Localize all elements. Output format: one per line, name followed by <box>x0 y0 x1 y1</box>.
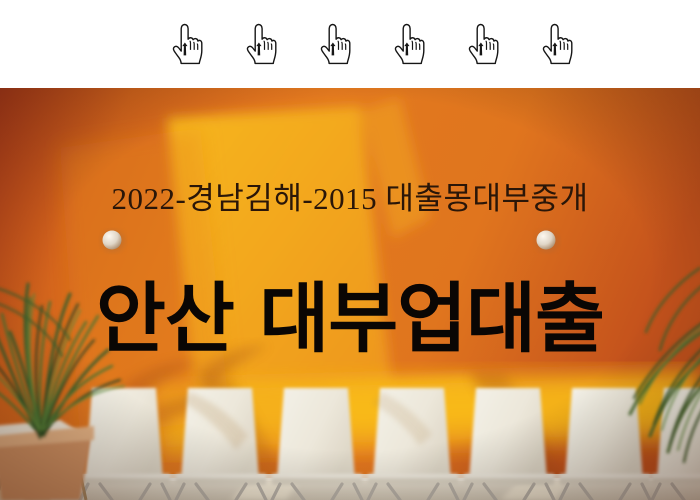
pointing-hand-icon-row <box>0 0 700 88</box>
page-root: 2022-경남김해-2015 대출몽대부중개 안산 대부업대출 <box>0 0 700 500</box>
banner-title: 안산 대부업대출 <box>0 279 700 359</box>
banner-subtitle: 2022-경남김해-2015 대출몽대부중개 <box>0 173 700 218</box>
waiting-room-banner: 2022-경남김해-2015 대출몽대부중개 안산 대부업대출 <box>0 88 700 500</box>
hand-pointing-up-icon[interactable] <box>244 22 278 66</box>
hand-pointing-up-icon[interactable] <box>170 22 204 66</box>
hand-pointing-up-icon[interactable] <box>318 22 352 66</box>
hand-pointing-up-icon[interactable] <box>466 22 500 66</box>
hand-pointing-up-icon[interactable] <box>540 22 574 66</box>
hand-pointing-up-icon[interactable] <box>392 22 426 66</box>
